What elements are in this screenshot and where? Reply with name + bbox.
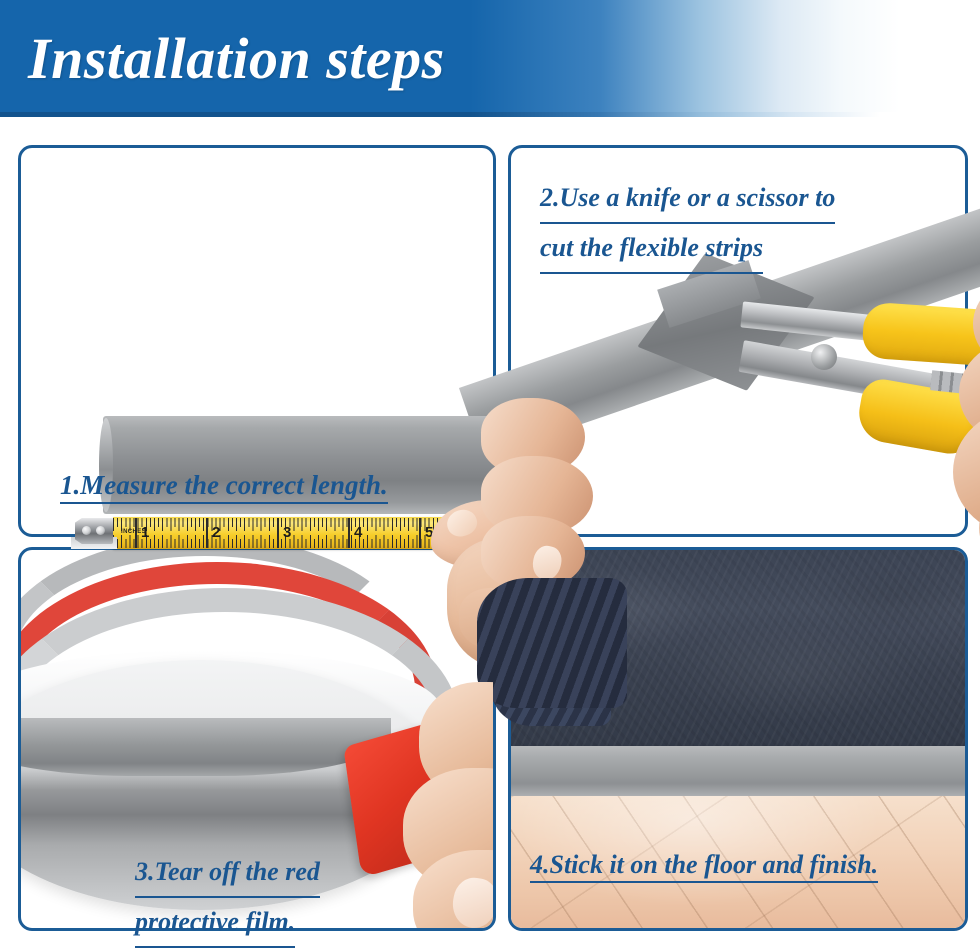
tape-unit-label: INCHES: [121, 529, 146, 535]
step-4-caption: 4.Stick it on the floor and finish.: [530, 850, 878, 883]
step-1-caption: 1.Measure the correct length.: [60, 470, 388, 504]
tape-number-3: 3: [283, 525, 291, 541]
caption-line: cut the flexible strips: [540, 224, 763, 274]
step-3-caption: 3.Tear off the red protective film.: [135, 848, 320, 948]
caption-line: protective film.: [135, 898, 295, 948]
tape-hook-metal: [75, 518, 113, 544]
installed-gray-trim-strip: [511, 746, 965, 798]
tape-major-tick: [206, 518, 208, 548]
right-hand-gripping-scissors: [929, 276, 980, 576]
tape-major-tick: [277, 518, 279, 548]
tape-number-4: 4: [354, 525, 362, 541]
hand-peeling-film: [397, 682, 493, 928]
scissor-pivot-screw: [811, 344, 837, 370]
header-underline: [0, 112, 980, 117]
step-2-caption: 2.Use a knife or a scissor to cut the fl…: [540, 174, 835, 274]
tape-number-2: 2: [212, 525, 220, 541]
tape-hook-rivet: [82, 526, 91, 535]
knuckle: [953, 408, 980, 536]
page-title: Installation steps: [28, 18, 445, 100]
caption-line: 3.Tear off the red: [135, 848, 320, 898]
navy-sleeve: [477, 578, 627, 708]
tape-major-tick: [348, 518, 350, 548]
tape-measure-hook: [71, 515, 117, 551]
caption-line: 1.Measure the correct length.: [60, 470, 388, 504]
caption-line: 2.Use a knife or a scissor to: [540, 174, 835, 224]
tape-hook-rivet: [96, 526, 105, 535]
caption-line: 4.Stick it on the floor and finish.: [530, 850, 878, 883]
